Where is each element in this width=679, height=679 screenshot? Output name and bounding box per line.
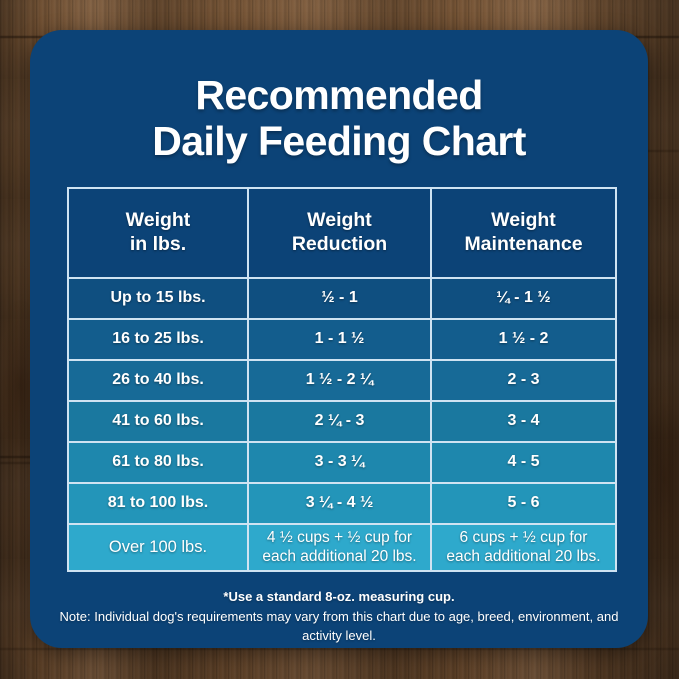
cell-weight: 16 to 25 lbs. bbox=[69, 320, 249, 361]
cell-maintenance-line-2: each additional 20 lbs. bbox=[436, 547, 611, 566]
footnote-note-line-2: Adjust food as required to maintain opti… bbox=[52, 646, 626, 648]
table-row: Over 100 lbs. 4 ½ cups + ½ cup for each … bbox=[69, 525, 615, 570]
cell-weight-maintenance: 4 - 5 bbox=[432, 443, 615, 484]
wood-grain-line bbox=[0, 648, 679, 650]
cell-weight: 26 to 40 lbs. bbox=[69, 361, 249, 402]
cell-weight-maintenance: 1 ½ - 2 bbox=[432, 320, 615, 361]
page-title: Recommended Daily Feeding Chart bbox=[30, 30, 648, 165]
cell-weight: Up to 15 lbs. bbox=[69, 279, 249, 320]
cell-weight-maintenance: 6 cups + ½ cup for each additional 20 lb… bbox=[432, 525, 615, 570]
table-row: 16 to 25 lbs. 1 - 1 ½ 1 ½ - 2 bbox=[69, 320, 615, 361]
column-header-weight: Weight in lbs. bbox=[69, 189, 249, 279]
table-body: Up to 15 lbs. ½ - 1 ¼ - 1 ½ 16 to 25 lbs… bbox=[69, 279, 615, 570]
column-header-maintenance-line-2: Maintenance bbox=[433, 233, 614, 257]
column-header-weight-maintenance: Weight Maintenance bbox=[432, 189, 615, 279]
table-row: 61 to 80 lbs. 3 - 3 ¼ 4 - 5 bbox=[69, 443, 615, 484]
cell-weight-reduction: 2 ¼ - 3 bbox=[249, 402, 432, 443]
cell-maintenance-line-1: 6 cups + ½ cup for bbox=[436, 528, 611, 547]
feeding-table: Weight in lbs. Weight Reduction Weight M… bbox=[67, 187, 617, 572]
column-header-weight-reduction: Weight Reduction bbox=[249, 189, 432, 279]
cell-weight-reduction: 1 ½ - 2 ¼ bbox=[249, 361, 432, 402]
cell-weight-reduction: 3 ¼ - 4 ½ bbox=[249, 484, 432, 525]
cell-weight-maintenance: 3 - 4 bbox=[432, 402, 615, 443]
column-header-maintenance-line-1: Weight bbox=[433, 209, 614, 233]
footnote-measuring-cup: *Use a standard 8-oz. measuring cup. bbox=[52, 588, 626, 607]
cell-weight: 81 to 100 lbs. bbox=[69, 484, 249, 525]
cell-reduction-line-2: each additional 20 lbs. bbox=[253, 547, 426, 566]
cell-weight-reduction: 4 ½ cups + ½ cup for each additional 20 … bbox=[249, 525, 432, 570]
table-row: 81 to 100 lbs. 3 ¼ - 4 ½ 5 - 6 bbox=[69, 484, 615, 525]
table-header-row: Weight in lbs. Weight Reduction Weight M… bbox=[69, 189, 615, 279]
page-title-line-2: Daily Feeding Chart bbox=[58, 119, 620, 165]
cell-weight-reduction: 1 - 1 ½ bbox=[249, 320, 432, 361]
table-header: Weight in lbs. Weight Reduction Weight M… bbox=[69, 189, 615, 279]
footnotes: *Use a standard 8-oz. measuring cup. Not… bbox=[52, 588, 626, 648]
cell-reduction-line-1: 4 ½ cups + ½ cup for bbox=[253, 528, 426, 547]
column-header-weight-line-1: Weight bbox=[70, 209, 246, 233]
feeding-chart-card: Recommended Daily Feeding Chart Weight i… bbox=[30, 30, 648, 648]
column-header-reduction-line-1: Weight bbox=[250, 209, 429, 233]
cell-weight-maintenance: 5 - 6 bbox=[432, 484, 615, 525]
cell-weight: 41 to 60 lbs. bbox=[69, 402, 249, 443]
cell-weight-maintenance: 2 - 3 bbox=[432, 361, 615, 402]
table-row: 26 to 40 lbs. 1 ½ - 2 ¼ 2 - 3 bbox=[69, 361, 615, 402]
footnote-note-line-1: Note: Individual dog's requirements may … bbox=[52, 607, 626, 646]
page-title-line-1: Recommended bbox=[58, 73, 620, 119]
column-header-weight-line-2: in lbs. bbox=[70, 233, 246, 257]
cell-weight-maintenance: ¼ - 1 ½ bbox=[432, 279, 615, 320]
column-header-reduction-line-2: Reduction bbox=[250, 233, 429, 257]
cell-weight-reduction: 3 - 3 ¼ bbox=[249, 443, 432, 484]
cell-weight-reduction: ½ - 1 bbox=[249, 279, 432, 320]
cell-weight: 61 to 80 lbs. bbox=[69, 443, 249, 484]
table-row: Up to 15 lbs. ½ - 1 ¼ - 1 ½ bbox=[69, 279, 615, 320]
table-row: 41 to 60 lbs. 2 ¼ - 3 3 - 4 bbox=[69, 402, 615, 443]
cell-weight: Over 100 lbs. bbox=[69, 525, 249, 570]
feeding-table-container: Weight in lbs. Weight Reduction Weight M… bbox=[67, 187, 611, 572]
